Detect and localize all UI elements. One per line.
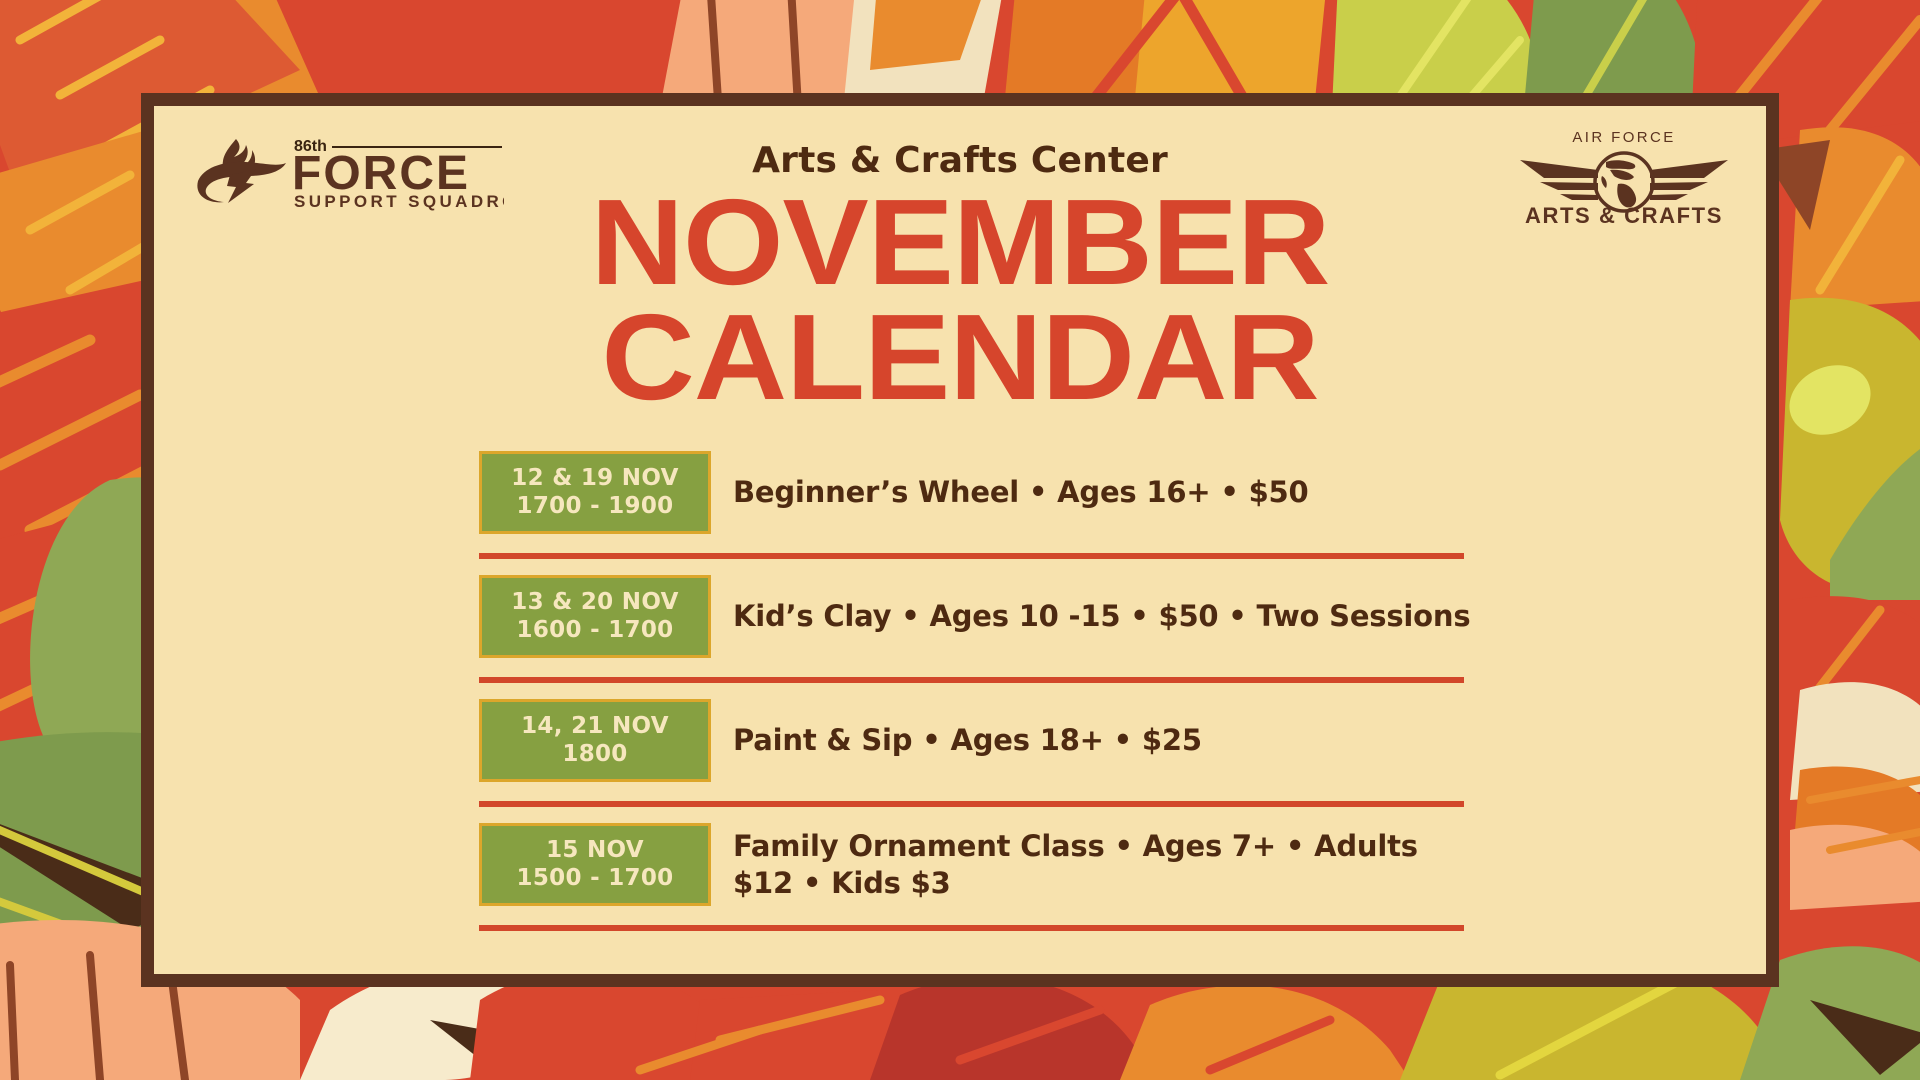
schedule-row: 13 & 20 NOV 1600 - 1700 Kid’s Clay • Age… [479,575,1479,664]
schedule-row: 14, 21 NOV 1800 Paint & Sip • Ages 18+ •… [479,699,1479,788]
schedule-row: 12 & 19 NOV 1700 - 1900 Beginner’s Wheel… [479,451,1479,540]
flame-swoosh-icon [197,139,286,203]
row-divider [479,925,1464,931]
schedule-row-what: Paint & Sip • Ages 18+ • $25 [711,722,1479,759]
schedule-row-what: Family Ornament Class • Ages 7+ • Adults… [711,828,1479,902]
schedule-row-what: Beginner’s Wheel • Ages 16+ • $50 [711,474,1479,511]
schedule-row: 15 NOV 1500 - 1700 Family Ornament Class… [479,823,1479,912]
schedule-row-when: 12 & 19 NOV 1700 - 1900 [479,451,711,534]
class-schedule-list: 12 & 19 NOV 1700 - 1900 Beginner’s Wheel… [479,451,1479,947]
force-support-squadron-logo-svg: 86th FORCE SUPPORT SQUADRON [194,131,504,211]
air-force-arts-crafts-logo-svg: AIR FORCE [1514,126,1734,226]
afac-top-text: AIR FORCE [1572,129,1675,146]
schedule-row-when: 14, 21 NOV 1800 [479,699,711,782]
poster-root: 86th FORCE SUPPORT SQUADRON AIR FORCE [0,0,1920,1080]
schedule-row-what: Kid’s Clay • Ages 10 -15 • $50 • Two Ses… [711,598,1479,635]
row-divider [479,677,1464,683]
row-divider [479,801,1464,807]
fss-logo: 86th FORCE SUPPORT SQUADRON [194,131,504,211]
fss-sub-text: SUPPORT SQUADRON [294,192,504,211]
schedule-row-when: 15 NOV 1500 - 1700 [479,823,711,906]
schedule-row-when: 13 & 20 NOV 1600 - 1700 [479,575,711,658]
afac-bottom-text: ARTS & CRAFTS [1525,203,1723,226]
page-title-line2: CALENDAR [106,304,1815,411]
row-divider [479,553,1464,559]
calendar-card: 86th FORCE SUPPORT SQUADRON AIR FORCE [141,93,1779,987]
air-force-arts-crafts-logo: AIR FORCE [1514,126,1734,226]
